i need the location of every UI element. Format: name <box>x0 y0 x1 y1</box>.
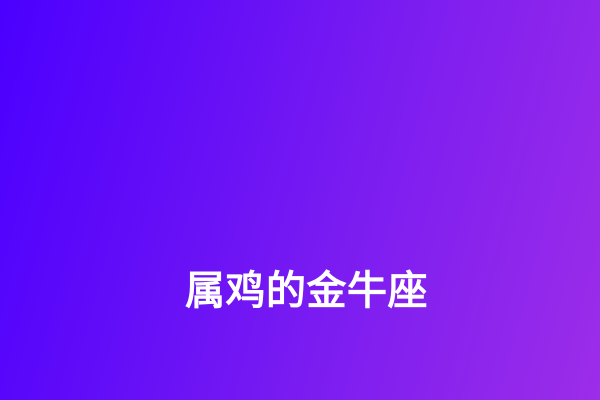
title-banner: 属鸡的金牛座 2023运程 <box>0 0 600 400</box>
headline-line-1: 属鸡的金牛座 <box>185 262 565 320</box>
headline-block: 属鸡的金牛座 2023运程 <box>185 146 565 400</box>
